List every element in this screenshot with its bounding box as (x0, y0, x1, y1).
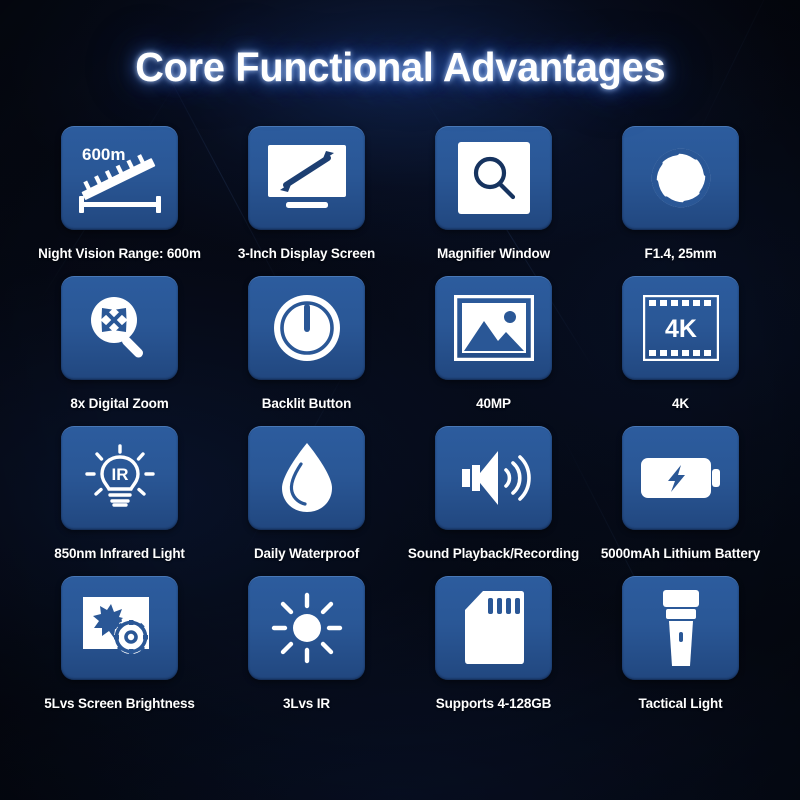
page-title: Core Functional Advantages (135, 44, 665, 91)
camera-aperture-icon (646, 143, 716, 213)
feature-item: 3Lvs IR (213, 576, 400, 726)
feature-label: Backlit Button (262, 396, 351, 411)
feature-tile[interactable] (248, 576, 365, 680)
feature-item: 5Lvs Screen Brightness (26, 576, 213, 726)
feature-tile[interactable] (61, 276, 178, 380)
ruler-distance-icon: 600m (74, 138, 166, 218)
power-button-icon (270, 291, 344, 365)
feature-label: Magnifier Window (437, 246, 550, 261)
feature-item: 5000mAh Lithium Battery (587, 426, 774, 576)
page-title-container: Core Functional Advantages (0, 44, 800, 91)
feature-item: 600m (26, 126, 213, 276)
feature-item: 8x Digital Zoom (26, 276, 213, 426)
feature-item: Backlit Button (213, 276, 400, 426)
zoom-expand-icon (83, 291, 157, 365)
feature-label: Night Vision Range: 600m (38, 246, 201, 261)
feature-label: 850nm Infrared Light (54, 546, 185, 561)
feature-tile[interactable] (435, 276, 552, 380)
feature-label: 5000mAh Lithium Battery (601, 546, 760, 561)
feature-item: Daily Waterproof (213, 426, 400, 576)
feature-label: 3Lvs IR (283, 696, 330, 711)
feature-tile[interactable]: 600m (61, 126, 178, 230)
feature-item: 4K 4K (587, 276, 774, 426)
feature-item: Tactical Light (587, 576, 774, 726)
screen-brightness-icon (81, 595, 159, 661)
feature-label: F1.4, 25mm (644, 246, 716, 261)
feature-label: 5Lvs Screen Brightness (44, 696, 195, 711)
film-4k-text: 4K (665, 315, 697, 343)
feature-label: 8x Digital Zoom (70, 396, 168, 411)
feature-grid: 600m (26, 126, 774, 726)
display-screen-icon (266, 142, 348, 214)
feature-item: Sound Playback/Recording (400, 426, 587, 576)
speaker-sound-icon (454, 443, 534, 513)
feature-label: Tactical Light (639, 696, 723, 711)
photo-image-icon (454, 295, 534, 361)
feature-tile[interactable] (622, 576, 739, 680)
svg-text:600m: 600m (82, 145, 125, 164)
feature-item: F1.4, 25mm (587, 126, 774, 276)
feature-label: 4K (672, 396, 689, 411)
battery-charge-icon (640, 452, 722, 504)
magnifier-window-icon (458, 142, 530, 214)
feature-item: Magnifier Window (400, 126, 587, 276)
feature-item: IR 850nm Infrared Light (26, 426, 213, 576)
feature-tile[interactable]: 4K (622, 276, 739, 380)
feature-label: Supports 4-128GB (436, 696, 551, 711)
sd-card-icon (463, 590, 525, 666)
flashlight-icon (658, 588, 704, 668)
feature-item: 40MP (400, 276, 587, 426)
water-drop-icon (276, 440, 338, 516)
feature-poster: Core Functional Advantages 600m (0, 0, 800, 800)
feature-tile[interactable] (435, 126, 552, 230)
feature-tile[interactable] (622, 426, 739, 530)
feature-tile[interactable] (435, 576, 552, 680)
feature-tile[interactable] (622, 126, 739, 230)
feature-tile[interactable] (248, 126, 365, 230)
sun-icon (271, 592, 343, 664)
ir-text: IR (111, 465, 128, 484)
film-strip-4k-icon: 4K (643, 295, 719, 361)
feature-tile[interactable] (61, 576, 178, 680)
feature-item: Supports 4-128GB (400, 576, 587, 726)
feature-label: Sound Playback/Recording (408, 546, 579, 561)
feature-tile[interactable] (248, 426, 365, 530)
feature-label: 3-Inch Display Screen (238, 246, 375, 261)
feature-label: Daily Waterproof (254, 546, 359, 561)
feature-tile[interactable]: IR (61, 426, 178, 530)
feature-item: 3-Inch Display Screen (213, 126, 400, 276)
feature-label: 40MP (476, 396, 511, 411)
feature-tile[interactable] (435, 426, 552, 530)
infrared-bulb-icon: IR (83, 441, 157, 515)
feature-tile[interactable] (248, 276, 365, 380)
